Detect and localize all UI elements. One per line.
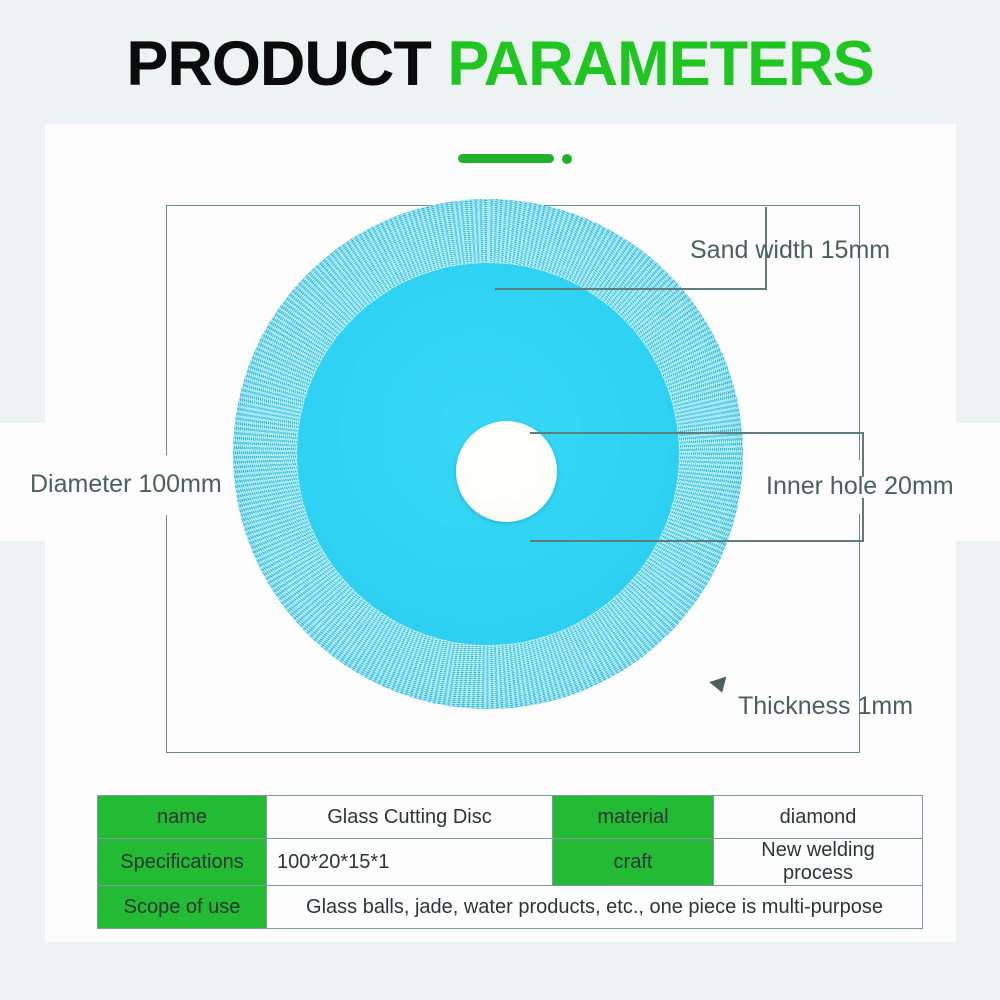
inner-hole-leader-upper — [530, 432, 864, 434]
cell-value-material: diamond — [714, 796, 923, 839]
product-parameters-page: PRODUCT PARAMETERS Sand width 15mm Inner… — [0, 0, 1000, 1000]
page-title-word-parameters: PARAMETERS — [447, 29, 873, 99]
cell-value-scope-of-use: Glass balls, jade, water products, etc.,… — [267, 886, 923, 929]
table-row: Scope of use Glass balls, jade, water pr… — [98, 886, 923, 929]
callout-thickness: Thickness 1mm — [738, 694, 913, 719]
table-row: Specifications 100*20*15*1 craft New wel… — [98, 839, 923, 886]
inner-hole-bracket-bottom — [862, 498, 864, 541]
sand-width-leader-lower — [495, 288, 767, 290]
cell-key-craft: craft — [553, 839, 714, 886]
callout-sand-width: Sand width 15mm — [690, 238, 890, 263]
cell-value-name: Glass Cutting Disc — [267, 796, 553, 839]
cell-value-specifications: 100*20*15*1 — [267, 839, 553, 886]
cell-value-craft: New welding process — [714, 839, 923, 886]
divider-dot-icon — [562, 154, 572, 164]
disc-center-hole — [456, 421, 557, 522]
divider-bar — [458, 154, 554, 163]
table-row: name Glass Cutting Disc material diamond — [98, 796, 923, 839]
callout-diameter: Diameter 100mm — [30, 472, 222, 497]
callout-inner-hole: Inner hole 20mm — [766, 474, 954, 499]
inner-hole-leader-lower — [530, 540, 864, 542]
cell-key-name: name — [98, 796, 267, 839]
specifications-table: name Glass Cutting Disc material diamond… — [97, 795, 923, 929]
page-title-word-product: PRODUCT — [126, 29, 431, 99]
inner-hole-bracket-top — [862, 432, 864, 477]
cell-key-scope-of-use: Scope of use — [98, 886, 267, 929]
cell-key-specifications: Specifications — [98, 839, 267, 886]
cutting-disc-illustration — [233, 199, 743, 709]
page-title: PRODUCT PARAMETERS — [0, 33, 1000, 96]
cell-key-material: material — [553, 796, 714, 839]
